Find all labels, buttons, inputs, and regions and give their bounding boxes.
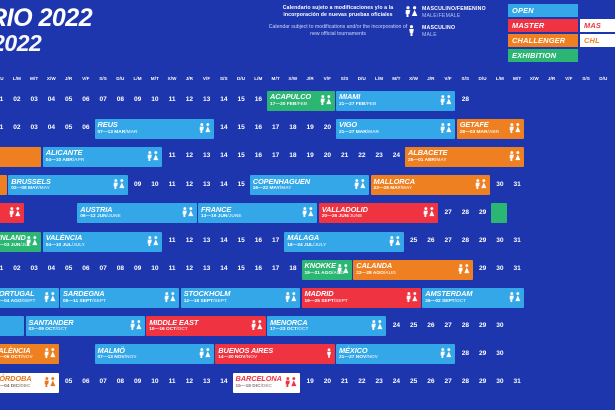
tournament-event[interactable]: VALÈNCIA31—06 OCT/NOV — [0, 344, 59, 364]
day-number: 15 — [233, 152, 250, 159]
tournament-event[interactable]: MALLORCA23—29 MAY/MAY — [371, 175, 490, 195]
tournament-event[interactable]: VALÈNCIA04—10 JUL/JULY — [43, 232, 162, 252]
day-of-week-label: J/R — [60, 76, 77, 81]
tournament-event[interactable]: GETAFE28—03 MAR/ABR — [457, 119, 525, 139]
page-title-line1: DARIO 2022 — [0, 4, 92, 32]
tournament-name: MENORCA — [270, 319, 383, 327]
day-number: 17 — [267, 152, 284, 159]
male-female-icon — [337, 264, 349, 276]
male-female-icon — [147, 151, 159, 163]
day-number: 15 — [233, 96, 250, 103]
day-number: 31 — [509, 378, 526, 385]
day-number: 14 — [215, 265, 232, 272]
day-of-week-label: X/W — [164, 76, 181, 81]
tournament-name: MIDDLE EAST — [149, 319, 262, 327]
tournament-dates: 21—27 FEB/FEB — [339, 102, 452, 108]
day-number: 12 — [181, 181, 198, 188]
day-number: 11 — [164, 152, 181, 159]
day-number: 08 — [112, 378, 129, 385]
male-female-icon — [251, 320, 263, 332]
day-number: 30 — [491, 350, 508, 357]
male-female-icon — [354, 179, 366, 191]
day-number: 05 — [60, 124, 77, 131]
day-number: 27 — [440, 378, 457, 385]
day-of-week-label: V/F — [77, 76, 94, 81]
day-number: 31 — [509, 265, 526, 272]
day-number: 21 — [336, 378, 353, 385]
day-number: 29 — [474, 322, 491, 329]
tournament-event[interactable]: SARDEGNA05—11 SEPT/SEPT — [60, 288, 179, 308]
day-number: 12 — [181, 237, 198, 244]
day-number: 11 — [164, 265, 181, 272]
day-number: 26 — [422, 378, 439, 385]
male-female-icon — [9, 207, 21, 219]
day-number: 06 — [77, 378, 94, 385]
tournament-dates: 12—18 SEPT/SEPT — [184, 299, 297, 305]
day-number: 17 — [267, 265, 284, 272]
day-of-week-label: V/F — [440, 76, 457, 81]
gender-legend-label-es: MASCULINO/FEMENINO — [422, 6, 486, 12]
day-number: 30 — [491, 378, 508, 385]
tournament-event[interactable]: BRUSSELS02—08 MAY/MAY — [8, 175, 127, 195]
male-female-icon — [440, 95, 452, 107]
male-female-icon — [147, 236, 159, 248]
day-of-week-label: L/M — [250, 76, 267, 81]
day-number: 23 — [371, 152, 388, 159]
male-female-icon — [389, 236, 401, 248]
day-number: 04 — [43, 124, 60, 131]
day-number: 09 — [129, 181, 146, 188]
tournament-name: VALLADOLID — [322, 206, 435, 214]
tournament-name: MALMÖ — [98, 347, 211, 355]
male-female-icon — [302, 207, 314, 219]
category-legend-master: MASTER — [508, 19, 578, 32]
day-number: 07 — [95, 378, 112, 385]
day-number: 04 — [43, 265, 60, 272]
page-title: DARIO 2022 AR 2022 — [0, 6, 92, 56]
tournament-name: ALICANTE — [46, 149, 159, 157]
day-number: 12 — [181, 378, 198, 385]
male-female-icon — [182, 207, 194, 219]
day-number: 15 — [233, 237, 250, 244]
male-icon — [404, 25, 418, 38]
day-number: 18 — [284, 124, 301, 131]
male-female-icon — [113, 179, 125, 191]
day-of-week-label: S/S — [457, 76, 474, 81]
male-female-icon — [130, 320, 142, 332]
tournament-dates: 02—08 MAY/MAY — [11, 186, 124, 192]
day-of-week-label: J/R — [302, 76, 319, 81]
tournament-dates: 04—10 ABR/APR — [46, 158, 159, 164]
tournament-event[interactable]: MARBELLA30—05 MAY/JUN — [0, 203, 24, 223]
tournament-dates: 14—20 NOV/NOV — [218, 355, 331, 361]
day-number: 31 — [509, 181, 526, 188]
day-number: 06 — [77, 265, 94, 272]
tournament-dates: 16—22 MAY/MAY — [253, 186, 366, 192]
tournament-event[interactable]: KNOKKE19—21 AGO/AUG — [302, 260, 352, 280]
male-female-icon — [458, 264, 470, 276]
day-of-week-label: S/S — [215, 76, 232, 81]
tournament-dates: 05—11 SEPT/SEPT — [63, 299, 176, 305]
tournament-name: BRUSSELS — [11, 178, 124, 186]
day-number: 14 — [215, 124, 232, 131]
day-number: 12 — [181, 265, 198, 272]
day-number: 12 — [181, 152, 198, 159]
calendar-month-row: 0102030405060708091011121314151617182930… — [0, 258, 615, 281]
calendar-month-row: 0506070809101112131419202122232425262728… — [0, 371, 615, 394]
tournament-event[interactable]: BARCELONA15—18 DIC/DEC — [233, 373, 301, 393]
day-number: 07 — [95, 96, 112, 103]
male-female-icon — [164, 292, 176, 304]
tournament-name: COPENHAGUEN — [253, 178, 366, 186]
tournament-dates: 22—28 AGO/AUG — [356, 271, 469, 277]
day-number: 16 — [250, 237, 267, 244]
event-continuation-block — [0, 316, 24, 336]
day-number: 17 — [267, 237, 284, 244]
day-number: 03 — [26, 96, 43, 103]
tournament-event[interactable]: MIDDLE EAST10—16 OCT/OCT — [146, 316, 265, 336]
tournament-dates: 21—27 MAR/MAR — [339, 130, 452, 136]
day-number: 29 — [474, 237, 491, 244]
day-number: 16 — [250, 265, 267, 272]
category-legend: OPENMASTERMASCHALLENGERCHLEXHIBITION — [508, 4, 615, 64]
male-female-icon — [475, 179, 487, 191]
calendar-month-row: 01020304050614151617181920REUS07—13 MAR/… — [0, 117, 615, 140]
day-number: 16 — [250, 124, 267, 131]
day-number: 30 — [491, 181, 508, 188]
day-number: 28 — [457, 209, 474, 216]
tournament-dates: 07—13 NOV/NOV — [98, 355, 211, 361]
tournament-dates: 04—10 JUL/JULY — [46, 243, 159, 249]
tournament-event[interactable]: FINLAND30—03 JUN/JUL — [0, 232, 41, 252]
male-female-icon — [320, 95, 332, 107]
male-female-icon — [44, 377, 56, 389]
tournament-event[interactable]: ALBACETE25—01 ABR/MAY — [405, 147, 524, 167]
calendar-month-row: 1112131415161725262728293031FINLAND30—03… — [0, 230, 615, 253]
day-number: 05 — [60, 378, 77, 385]
day-of-week-label: L/M — [129, 76, 146, 81]
tournament-dates: 20—26 JUN/JUNE — [322, 214, 435, 220]
male-female-icon — [26, 236, 38, 248]
calendar-month-row: 0102030405060708091011121314151628ACAPUL… — [0, 89, 615, 112]
day-number: 31 — [509, 237, 526, 244]
day-number: 28 — [457, 350, 474, 357]
day-number: 09 — [129, 378, 146, 385]
tournament-event[interactable]: AUSTRIA06—12 JUN/JUNE — [77, 203, 196, 223]
day-number: 14 — [215, 378, 232, 385]
calendar-disclaimer: Calendario sujeto a modificaciones y/o a… — [268, 5, 408, 37]
tournament-event[interactable]: REUS07—13 MAR/MAR — [95, 119, 214, 139]
day-number: 13 — [198, 378, 215, 385]
tournament-dates: 17—23 OCT/OCT — [270, 327, 383, 333]
tournament-dates: 03—09 OCT/OCT — [29, 327, 142, 333]
day-number: 22 — [353, 152, 370, 159]
gender-legend-label-es: MASCULINO — [422, 25, 455, 31]
day-of-week-label: D/U — [233, 76, 250, 81]
day-number: 10 — [146, 181, 163, 188]
day-of-week-label: M/T — [388, 76, 405, 81]
tournament-name: CALANDA — [356, 262, 469, 270]
tournament-event[interactable]: AMSTERDAM26—02 SEPT/OCT — [422, 288, 524, 308]
day-number: 16 — [250, 96, 267, 103]
day-number: 25 — [405, 322, 422, 329]
tournament-name: BUENOS AIRES — [218, 347, 331, 355]
category-legend-row: MASTERMAS — [508, 19, 615, 32]
male-female-icon — [44, 348, 56, 360]
male-icon — [326, 348, 332, 360]
event-continuation-block — [491, 203, 507, 223]
day-of-week-label: X/W — [526, 76, 543, 81]
tournament-dates: 06—12 JUN/JUNE — [80, 214, 193, 220]
day-of-week-label: S/S — [95, 76, 112, 81]
day-number: 06 — [77, 96, 94, 103]
day-number: 10 — [146, 265, 163, 272]
day-number: 30 — [491, 322, 508, 329]
day-of-week-label: D/U — [474, 76, 491, 81]
gender-legend-label-en: MALE — [422, 32, 455, 38]
tournament-event[interactable]: ACAPULCO17—20 FEB/FEB — [267, 91, 335, 111]
tournament-event[interactable]: CÓRDOBA01—04 DIC/DEC — [0, 373, 59, 393]
male-female-icon — [509, 151, 521, 163]
day-number: 07 — [95, 265, 112, 272]
day-number: 30 — [491, 237, 508, 244]
day-number: 19 — [302, 378, 319, 385]
day-number: 01 — [0, 265, 8, 272]
day-number: 18 — [284, 265, 301, 272]
category-legend-row: EXHIBITION — [508, 49, 615, 62]
day-number: 20 — [319, 152, 336, 159]
tournament-event[interactable]: MÁLAGA18—24 JUL/JULY — [284, 232, 403, 252]
day-number: 20 — [319, 124, 336, 131]
day-number: 11 — [164, 96, 181, 103]
day-number: 18 — [284, 152, 301, 159]
category-legend-row: OPEN — [508, 4, 615, 17]
day-of-week-label: X/W — [405, 76, 422, 81]
category-legend-challenger: CHALLENGER — [508, 34, 578, 47]
day-number: 29 — [474, 378, 491, 385]
day-of-week-label: J/R — [422, 76, 439, 81]
day-of-week-label: D/U — [595, 76, 612, 81]
tournament-name: VALÈNCIA — [46, 234, 159, 242]
day-of-week-label: J/R — [543, 76, 560, 81]
male-female-icon — [404, 6, 418, 19]
tournament-dates: 21—27 NOV/NOV — [339, 355, 452, 361]
day-number: 19 — [302, 152, 319, 159]
day-number: 15 — [233, 265, 250, 272]
calendar-month-row: 1112131415161718192021222324ALICANTE04—1… — [0, 145, 615, 168]
day-number: 02 — [8, 96, 25, 103]
day-number: 20 — [319, 378, 336, 385]
day-number: 27 — [440, 209, 457, 216]
gender-legend: MASCULINO/FEMENINOMALE/FEMALEMASCULINOMA… — [404, 6, 500, 44]
day-number: 22 — [353, 378, 370, 385]
day-number: 02 — [8, 124, 25, 131]
tournament-event[interactable]: COPENHAGUEN16—22 MAY/MAY — [250, 175, 369, 195]
day-number: 26 — [422, 322, 439, 329]
day-number: 24 — [388, 152, 405, 159]
day-of-week-label: L/M — [8, 76, 25, 81]
category-legend-open: OPEN — [508, 4, 578, 17]
day-number: 08 — [112, 265, 129, 272]
day-number: 05 — [60, 96, 77, 103]
tournament-dates: 25—01 ABR/MAY — [408, 158, 521, 164]
tournament-dates: 18—24 JUL/JULY — [287, 243, 400, 249]
male-female-icon — [285, 377, 297, 389]
day-number: 19 — [302, 124, 319, 131]
day-of-week-label: V/F — [198, 76, 215, 81]
day-number: 09 — [129, 96, 146, 103]
day-number: 29 — [474, 209, 491, 216]
day-of-week-label: L/M — [371, 76, 388, 81]
day-number: 01 — [0, 96, 8, 103]
day-of-week-label: M/T — [267, 76, 284, 81]
category-legend-master-alt: MAS — [580, 19, 615, 32]
tournament-dates: 26—02 SEPT/OCT — [425, 299, 521, 305]
tournament-event[interactable]: VALLADOLID20—26 JUN/JUNE — [319, 203, 438, 223]
day-number: 25 — [405, 237, 422, 244]
day-number: 08 — [112, 96, 129, 103]
day-number: 10 — [146, 378, 163, 385]
day-number: 13 — [198, 152, 215, 159]
male-female-icon — [423, 207, 435, 219]
day-number: 29 — [474, 265, 491, 272]
tournament-name: VIGO — [339, 121, 452, 129]
tournament-name: ALBACETE — [408, 149, 521, 157]
tournament-name: FRANCE — [201, 206, 314, 214]
tournament-event[interactable]: FRANCE13—19 JUN/JUNE — [198, 203, 317, 223]
day-number: 15 — [233, 181, 250, 188]
day-number: 14 — [215, 152, 232, 159]
tournament-event[interactable]: CALANDA22—28 AGO/AUG — [353, 260, 472, 280]
day-of-week-label: S/S — [578, 76, 595, 81]
tournament-event[interactable]: SANTANDER03—09 OCT/OCT — [26, 316, 145, 336]
disclaimer-en: Calendar subject to modifications and/or… — [268, 24, 408, 37]
day-number: 11 — [164, 181, 181, 188]
male-female-icon — [509, 292, 521, 304]
day-number: 28 — [457, 322, 474, 329]
calendar-page: DARIO 2022 AR 2022 Calendario sujeto a m… — [0, 0, 615, 410]
male-female-icon — [199, 348, 211, 360]
day-number: 24 — [388, 378, 405, 385]
day-of-week-label: V/F — [560, 76, 577, 81]
male-female-icon — [371, 320, 383, 332]
day-number: 17 — [267, 124, 284, 131]
day-number: 28 — [457, 237, 474, 244]
day-of-week-label: X/W — [284, 76, 301, 81]
calendar-month-row: PORTUGAL29—04 AGO/SEPTSARDEGNA05—11 SEPT… — [0, 286, 615, 309]
tournament-event[interactable]: STOCKHOLM12—18 SEPT/SEPT — [181, 288, 300, 308]
day-number: 14 — [215, 181, 232, 188]
tournament-dates: 07—13 MAR/MAR — [98, 130, 211, 136]
day-of-week-header: D/UL/MM/TX/WJ/RV/FS/SD/UL/MM/TX/WJ/RV/FS… — [0, 76, 615, 85]
tournament-event[interactable]: BUENOS AIRES14—20 NOV/NOV — [215, 344, 334, 364]
tournament-name: MÉXICO — [339, 347, 452, 355]
calendar-month-row: 282930VALÈNCIA31—06 OCT/NOVMALMÖ07—13 NO… — [0, 343, 615, 366]
tournament-event[interactable]: VIGO21—27 MAR/MAR — [336, 119, 455, 139]
day-number: 02 — [8, 265, 25, 272]
tournament-event[interactable]: ALICANTE04—10 ABR/APR — [43, 147, 162, 167]
tournament-name: REUS — [98, 121, 211, 129]
male-female-icon — [285, 292, 297, 304]
day-number: 23 — [371, 378, 388, 385]
calendar-month-row: 24252627282930SANTANDER03—09 OCT/OCTMIDD… — [0, 315, 615, 338]
day-number: 21 — [336, 152, 353, 159]
calendar-month-row: 091011121314153031BRUSSELS02—08 MAY/MAYC… — [0, 174, 615, 197]
event-continuation-block — [0, 147, 41, 167]
day-number: 11 — [164, 237, 181, 244]
day-number: 24 — [388, 322, 405, 329]
day-number: 14 — [215, 237, 232, 244]
tournament-event[interactable]: MALMÖ07—13 NOV/NOV — [95, 344, 214, 364]
category-legend-challenger-alt: CHL — [580, 34, 615, 47]
day-number: 01 — [0, 124, 8, 131]
tournament-name: SANTANDER — [29, 319, 142, 327]
day-number: 28 — [457, 96, 474, 103]
male-female-icon — [44, 292, 56, 304]
day-number: 06 — [77, 124, 94, 131]
day-number: 25 — [405, 378, 422, 385]
tournament-dates: 23—29 MAY/MAY — [374, 186, 487, 192]
tournament-dates: 10—16 OCT/OCT — [149, 327, 262, 333]
day-number: 03 — [26, 124, 43, 131]
day-number: 13 — [198, 181, 215, 188]
tournament-name: MÁLAGA — [287, 234, 400, 242]
day-number: 03 — [26, 265, 43, 272]
male-female-icon — [440, 348, 452, 360]
event-continuation-block — [0, 175, 7, 195]
category-legend-exhibition: EXHIBITION — [508, 49, 578, 62]
day-number: 09 — [129, 265, 146, 272]
day-of-week-label: M/T — [509, 76, 526, 81]
tournament-name: STOCKHOLM — [184, 290, 297, 298]
day-number: 10 — [146, 96, 163, 103]
day-number: 27 — [440, 237, 457, 244]
tournament-event[interactable]: MADRID19—25 SEPT/SEPT — [302, 288, 421, 308]
category-legend-row: CHALLENGERCHL — [508, 34, 615, 47]
tournament-name: SARDEGNA — [63, 290, 176, 298]
day-of-week-label: V/F — [319, 76, 336, 81]
tournament-dates: 19—25 SEPT/SEPT — [305, 299, 418, 305]
day-number: 13 — [198, 96, 215, 103]
day-number: 13 — [198, 237, 215, 244]
tournament-name: AUSTRIA — [80, 206, 193, 214]
tournament-event[interactable]: MIAMI21—27 FEB/FEB — [336, 91, 455, 111]
day-of-week-label: X/W — [43, 76, 60, 81]
tournament-dates: 13—19 JUN/JUNE — [201, 214, 314, 220]
day-of-week-label: L/M — [491, 76, 508, 81]
day-number: 04 — [43, 96, 60, 103]
day-of-week-label: J/R — [181, 76, 198, 81]
tournament-event[interactable]: MÉXICO21—27 NOV/NOV — [336, 344, 455, 364]
day-number: 28 — [457, 378, 474, 385]
day-number: 14 — [215, 96, 232, 103]
day-number: 16 — [250, 152, 267, 159]
day-number: 29 — [474, 350, 491, 357]
male-female-icon — [199, 123, 211, 135]
tournament-name: MIAMI — [339, 93, 452, 101]
day-number: 15 — [233, 124, 250, 131]
gender-legend-row: MASCULINO/FEMENINOMALE/FEMALE — [404, 6, 500, 19]
tournament-name: MADRID — [305, 290, 418, 298]
gender-legend-row: MASCULINOMALE — [404, 25, 500, 38]
tournament-event[interactable]: MENORCA17—23 OCT/OCT — [267, 316, 386, 336]
day-number: 11 — [164, 378, 181, 385]
day-number: 12 — [181, 96, 198, 103]
day-of-week-label: S/S — [336, 76, 353, 81]
tournament-name: MALLORCA — [374, 178, 487, 186]
tournament-event[interactable]: PORTUGAL29—04 AGO/SEPT — [0, 288, 59, 308]
day-of-week-label: D/U — [0, 76, 8, 81]
